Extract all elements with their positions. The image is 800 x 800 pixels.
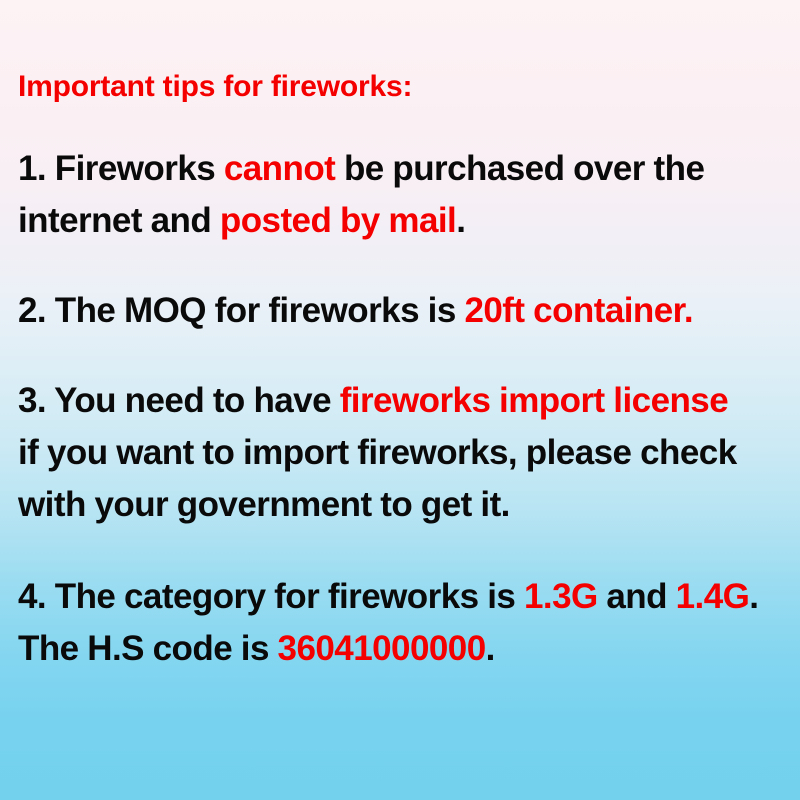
tip-item-4-line-2: The H.S code is 36041000000. (18, 623, 792, 675)
tip-item-1-line-1: 1. Fireworks cannot be purchased over th… (18, 143, 792, 195)
tip-item-4-text-a: The category for fireworks is (46, 577, 524, 616)
tip-item-4-highlight-class-14g: 1.4G (676, 577, 750, 616)
tip-item-1-text-c: internet and (18, 201, 220, 240)
tip-item-2-text-b: . (684, 291, 693, 330)
tip-item-1-text-d: . (456, 201, 465, 240)
tip-item-4-text-c: . (749, 577, 758, 616)
tip-item-1-text-a: Fireworks (46, 149, 224, 188)
tip-item-2-line-1: 2. The MOQ for fireworks is 20ft contain… (18, 285, 792, 337)
tip-item-1: 1. Fireworks cannot be purchased over th… (18, 105, 792, 247)
tip-item-1-number: 1. (18, 149, 46, 188)
tip-item-3-line-2: if you want to import fireworks, please … (18, 427, 792, 479)
tip-item-4-text-e: . (486, 629, 495, 668)
tip-item-3-line-1: 3. You need to have fireworks import lic… (18, 375, 792, 427)
tip-item-1-text-b: be purchased over the (335, 149, 704, 188)
tip-item-3-text-a: You need to have (46, 381, 340, 420)
tip-item-4: 4. The category for fireworks is 1.3G an… (18, 531, 792, 675)
tip-item-3-highlight-license: fireworks import license (340, 381, 728, 420)
poster-content: Important tips for fireworks: 1. Firewor… (18, 0, 792, 675)
tip-item-3: 3. You need to have fireworks import lic… (18, 337, 792, 531)
tip-item-1-line-2: internet and posted by mail. (18, 195, 792, 247)
tip-item-3-number: 3. (18, 381, 46, 420)
tip-item-4-text-b: and (598, 577, 676, 616)
tip-item-2-number: 2. (18, 291, 46, 330)
tip-item-2-highlight-moq: 20ft container (464, 291, 683, 330)
tip-item-1-highlight-cannot: cannot (224, 149, 335, 188)
tip-item-4-number: 4. (18, 577, 46, 616)
tip-item-2-text-a: The MOQ for fireworks is (46, 291, 464, 330)
tip-item-2: 2. The MOQ for fireworks is 20ft contain… (18, 247, 792, 337)
tip-item-3-line-3: with your government to get it. (18, 479, 792, 531)
tip-item-4-highlight-hs-code: 36041000000 (278, 629, 486, 668)
fireworks-tips-poster: Important tips for fireworks: 1. Firewor… (0, 0, 800, 800)
page-title: Important tips for fireworks: (18, 0, 792, 105)
tip-item-4-text-d: The H.S code is (18, 629, 278, 668)
tip-item-1-highlight-posted-by-mail: posted by mail (220, 201, 456, 240)
tip-item-4-highlight-class-13g: 1.3G (524, 577, 598, 616)
tip-item-4-line-1: 4. The category for fireworks is 1.3G an… (18, 571, 792, 623)
